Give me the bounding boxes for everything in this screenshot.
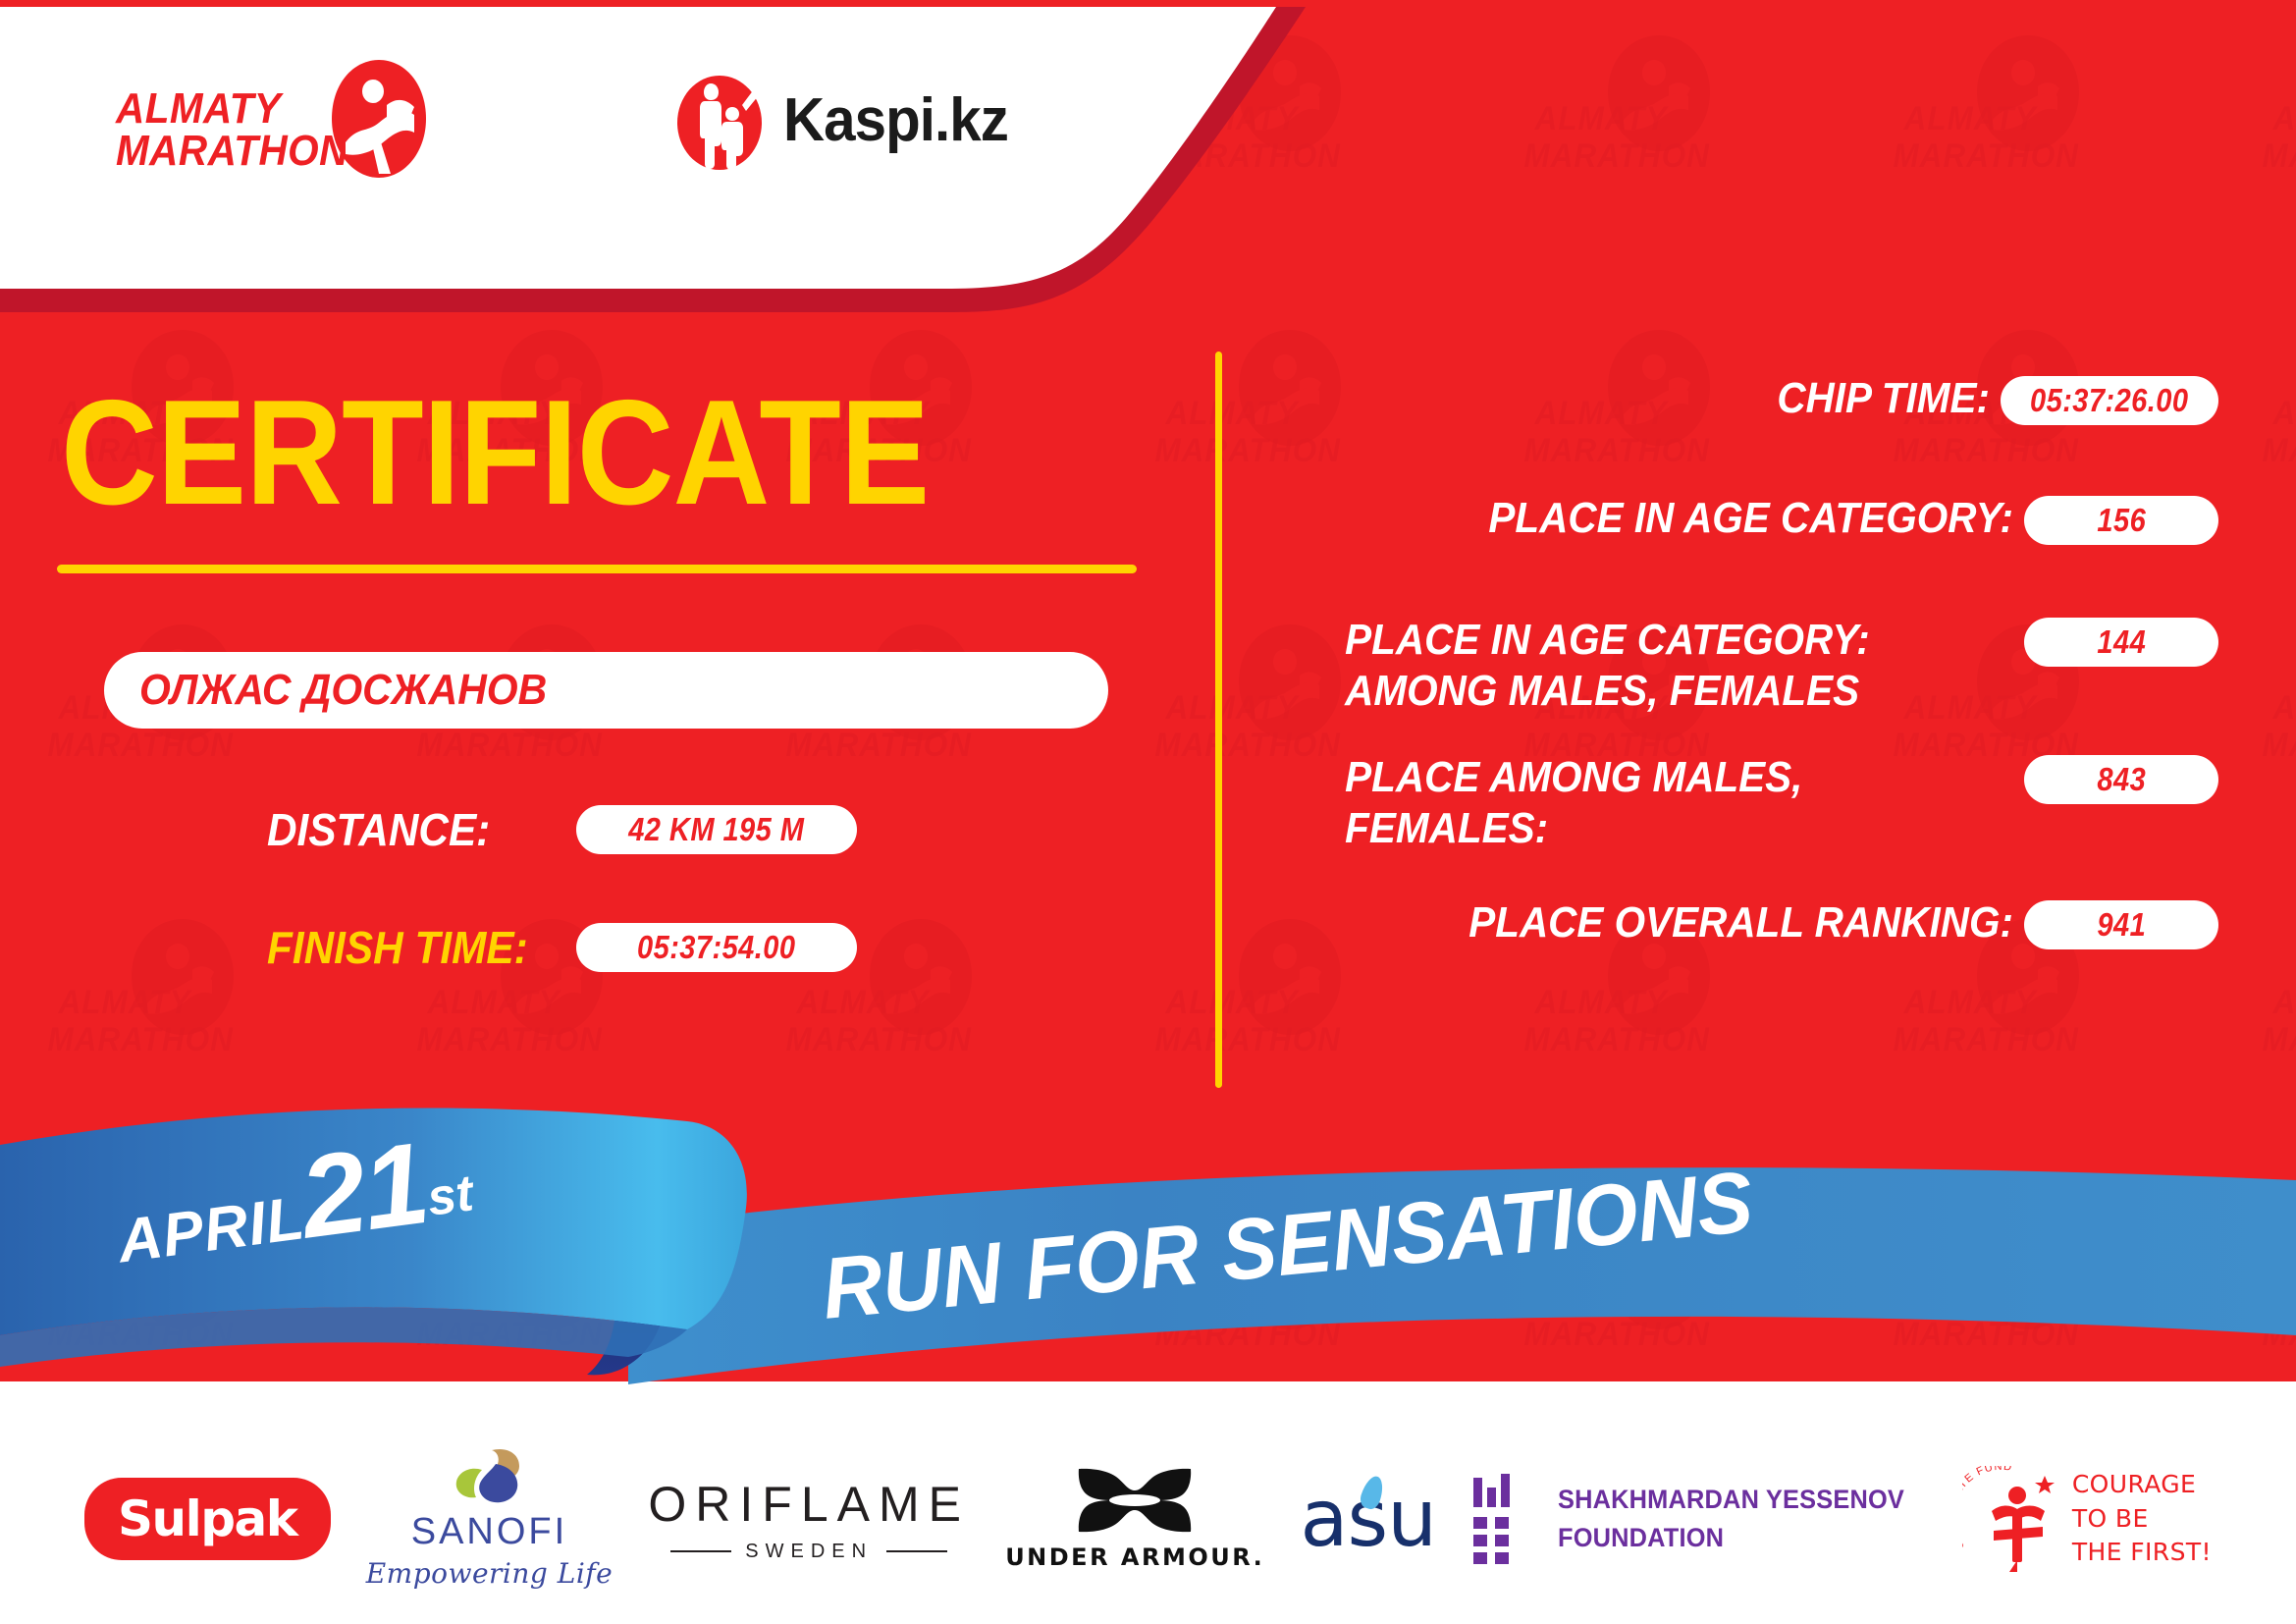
results-stats-panel: CHIP TIME: 05:37:26.00 PLACE IN AGE CATE… xyxy=(1286,373,2218,988)
place-among-gender-value-pill: 843 xyxy=(2024,755,2218,804)
sanofi-wordmark: SANOFI xyxy=(411,1511,567,1553)
sponsor-yessenov-foundation: SHAKHMARDAN YESSENOV FOUNDATION xyxy=(1471,1474,1927,1564)
yessenov-wordmark: SHAKHMARDAN YESSENOV FOUNDATION xyxy=(1558,1481,1904,1557)
distance-row: DISTANCE: 42 KM 195 M xyxy=(267,803,857,856)
sponsor-oriflame: ORIFLAME SWEDEN xyxy=(648,1476,970,1563)
participant-name-field: ОЛЖАС ДОСЖАНОВ xyxy=(104,652,1108,729)
certificate-title: CERTIFICATE xyxy=(61,378,929,527)
oriflame-country: SWEDEN xyxy=(745,1541,873,1563)
oriflame-rule-left xyxy=(670,1550,731,1552)
yessenov-line2: FOUNDATION xyxy=(1558,1519,1904,1557)
sponsor-under-armour: UNDER ARMOUR. xyxy=(1005,1467,1264,1571)
chip-time-label: CHIP TIME: xyxy=(1343,373,2001,424)
oriflame-sub: SWEDEN xyxy=(670,1541,947,1563)
place-age-category-value-pill: 156 xyxy=(2024,496,2218,545)
stat-row: PLACE OVERALL RANKING: 941 xyxy=(1286,897,2218,970)
finish-time-row: FINISH TIME: 05:37:54.00 xyxy=(267,921,857,974)
column-divider xyxy=(1215,352,1222,1088)
sanofi-tagline: Empowering Life xyxy=(366,1557,614,1590)
place-age-category-value: 156 xyxy=(2097,502,2146,539)
courage-fund-runner-icon: CORPORATE FUND xyxy=(1962,1466,2060,1572)
top-accent-strip xyxy=(0,0,2296,7)
chip-time-value-pill: 05:37:26.00 xyxy=(2001,376,2218,425)
chip-time-value: 05:37:26.00 xyxy=(2030,382,2188,419)
oriflame-wordmark: ORIFLAME xyxy=(648,1476,970,1533)
sanofi-mark-icon xyxy=(447,1448,531,1505)
under-armour-logo-icon xyxy=(1073,1467,1197,1534)
finish-time-value-pill: 05:37:54.00 xyxy=(576,923,857,972)
courage-line3: THE FIRST! xyxy=(2072,1536,2212,1570)
certificate-canvas: ALMATY MARATHON ALMATY MARATHON xyxy=(0,0,2296,1624)
place-overall-value: 941 xyxy=(2097,906,2146,944)
place-age-category-gender-value: 144 xyxy=(2097,623,2146,661)
place-age-category-label: PLACE IN AGE CATEGORY: xyxy=(1345,493,2024,544)
stat-row: PLACE IN AGE CATEGORY: 156 xyxy=(1286,493,2218,566)
place-among-gender-value: 843 xyxy=(2097,761,2146,798)
yessenov-line1: SHAKHMARDAN YESSENOV xyxy=(1558,1481,1904,1519)
finish-time-value: 05:37:54.00 xyxy=(637,929,795,966)
place-age-category-gender-value-pill: 144 xyxy=(2024,618,2218,667)
courage-fund-wordmark: COURAGE TO BE THE FIRST! xyxy=(2072,1468,2212,1570)
stat-row: PLACE AMONG MALES, FEMALES: 843 xyxy=(1286,752,2218,854)
participant-name: ОЛЖАС ДОСЖАНОВ xyxy=(139,666,547,715)
courage-line2: TO BE xyxy=(2072,1502,2212,1537)
stat-row: CHIP TIME: 05:37:26.00 xyxy=(1286,373,2218,446)
distance-value: 42 KM 195 M xyxy=(628,811,804,848)
ribbon-day: 21 xyxy=(294,1118,434,1263)
ribbon-day-suffix: st xyxy=(424,1164,476,1227)
place-overall-value-pill: 941 xyxy=(2024,900,2218,949)
place-age-category-gender-label: PLACE IN AGE CATEGORY: AMONG MALES, FEMA… xyxy=(1345,615,2024,717)
place-overall-label: PLACE OVERALL RANKING: xyxy=(1345,897,2024,948)
place-among-gender-label: PLACE AMONG MALES, FEMALES: xyxy=(1345,752,2024,854)
oriflame-rule-right xyxy=(886,1550,947,1552)
under-armour-wordmark: UNDER ARMOUR. xyxy=(1005,1543,1264,1571)
yessenov-bars-icon xyxy=(1471,1474,1536,1564)
stat-row: PLACE IN AGE CATEGORY: AMONG MALES, FEMA… xyxy=(1286,615,2218,717)
sponsor-asu: asu xyxy=(1300,1480,1435,1558)
courage-line1: COURAGE xyxy=(2072,1468,2212,1502)
sponsor-bar: Sulpak SANOFI Empowering Life ORIFLAME S… xyxy=(0,1414,2296,1624)
distance-label: DISTANCE: xyxy=(267,803,490,856)
title-underline-rule xyxy=(57,565,1137,573)
sponsor-sanofi: SANOFI Empowering Life xyxy=(366,1448,614,1590)
distance-value-pill: 42 KM 195 M xyxy=(576,805,857,854)
sponsor-sulpak: Sulpak xyxy=(84,1478,331,1560)
sponsor-courage-fund: CORPORATE FUND COURAGE TO BE THE FIRST! xyxy=(1962,1466,2212,1572)
sulpak-wordmark: Sulpak xyxy=(118,1490,297,1547)
ribbon-month: APRIL xyxy=(114,1184,308,1275)
finish-time-label: FINISH TIME: xyxy=(267,921,528,974)
